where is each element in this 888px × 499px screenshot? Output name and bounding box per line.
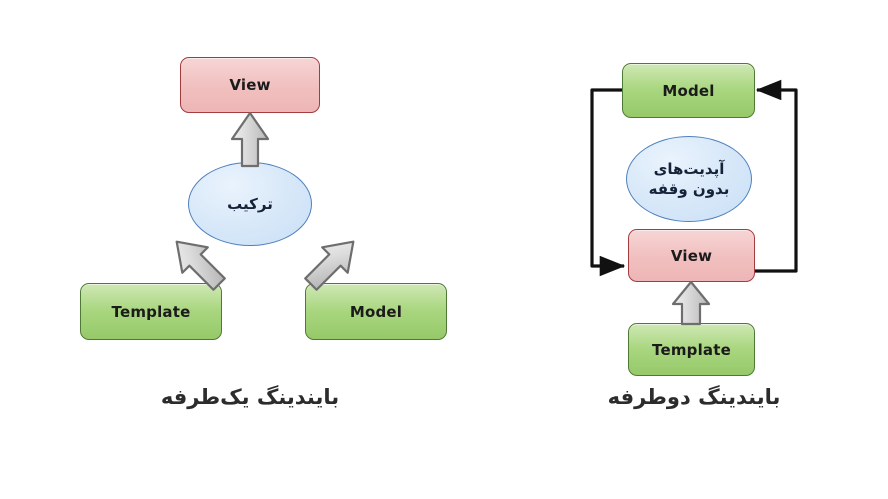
- node-continuous-updates-label-line1: آپدیت‌های: [654, 159, 725, 179]
- node-view[interactable]: View: [180, 57, 320, 113]
- node-template-label: Template: [112, 303, 191, 321]
- node-template-label: Template: [652, 341, 731, 359]
- node-compose[interactable]: ترکیب: [188, 162, 312, 246]
- panel-two-way-binding: Model آپدیت‌های بدون وقفه View Template …: [500, 0, 888, 499]
- node-model[interactable]: Model: [622, 63, 755, 118]
- panel-one-way-binding: View ترکیب Template Model بایندینگ یک‌طر…: [0, 0, 500, 499]
- node-continuous-updates[interactable]: آپدیت‌های بدون وقفه: [626, 136, 752, 222]
- caption-two-way-binding: بایندینگ دوطرفه: [500, 385, 888, 409]
- caption-one-way-binding: بایندینگ یک‌طرفه: [0, 385, 500, 409]
- diagram-canvas: View ترکیب Template Model بایندینگ یک‌طر…: [0, 0, 888, 499]
- node-continuous-updates-label-line2: بدون وقفه: [649, 179, 730, 199]
- node-compose-label: ترکیب: [227, 194, 273, 214]
- node-view-label: View: [229, 76, 270, 94]
- node-model-label: Model: [350, 303, 402, 321]
- node-template[interactable]: Template: [80, 283, 222, 340]
- node-model-label: Model: [662, 82, 714, 100]
- node-template[interactable]: Template: [628, 323, 755, 376]
- node-model[interactable]: Model: [305, 283, 447, 340]
- node-view-label: View: [671, 247, 712, 265]
- node-view[interactable]: View: [628, 229, 755, 282]
